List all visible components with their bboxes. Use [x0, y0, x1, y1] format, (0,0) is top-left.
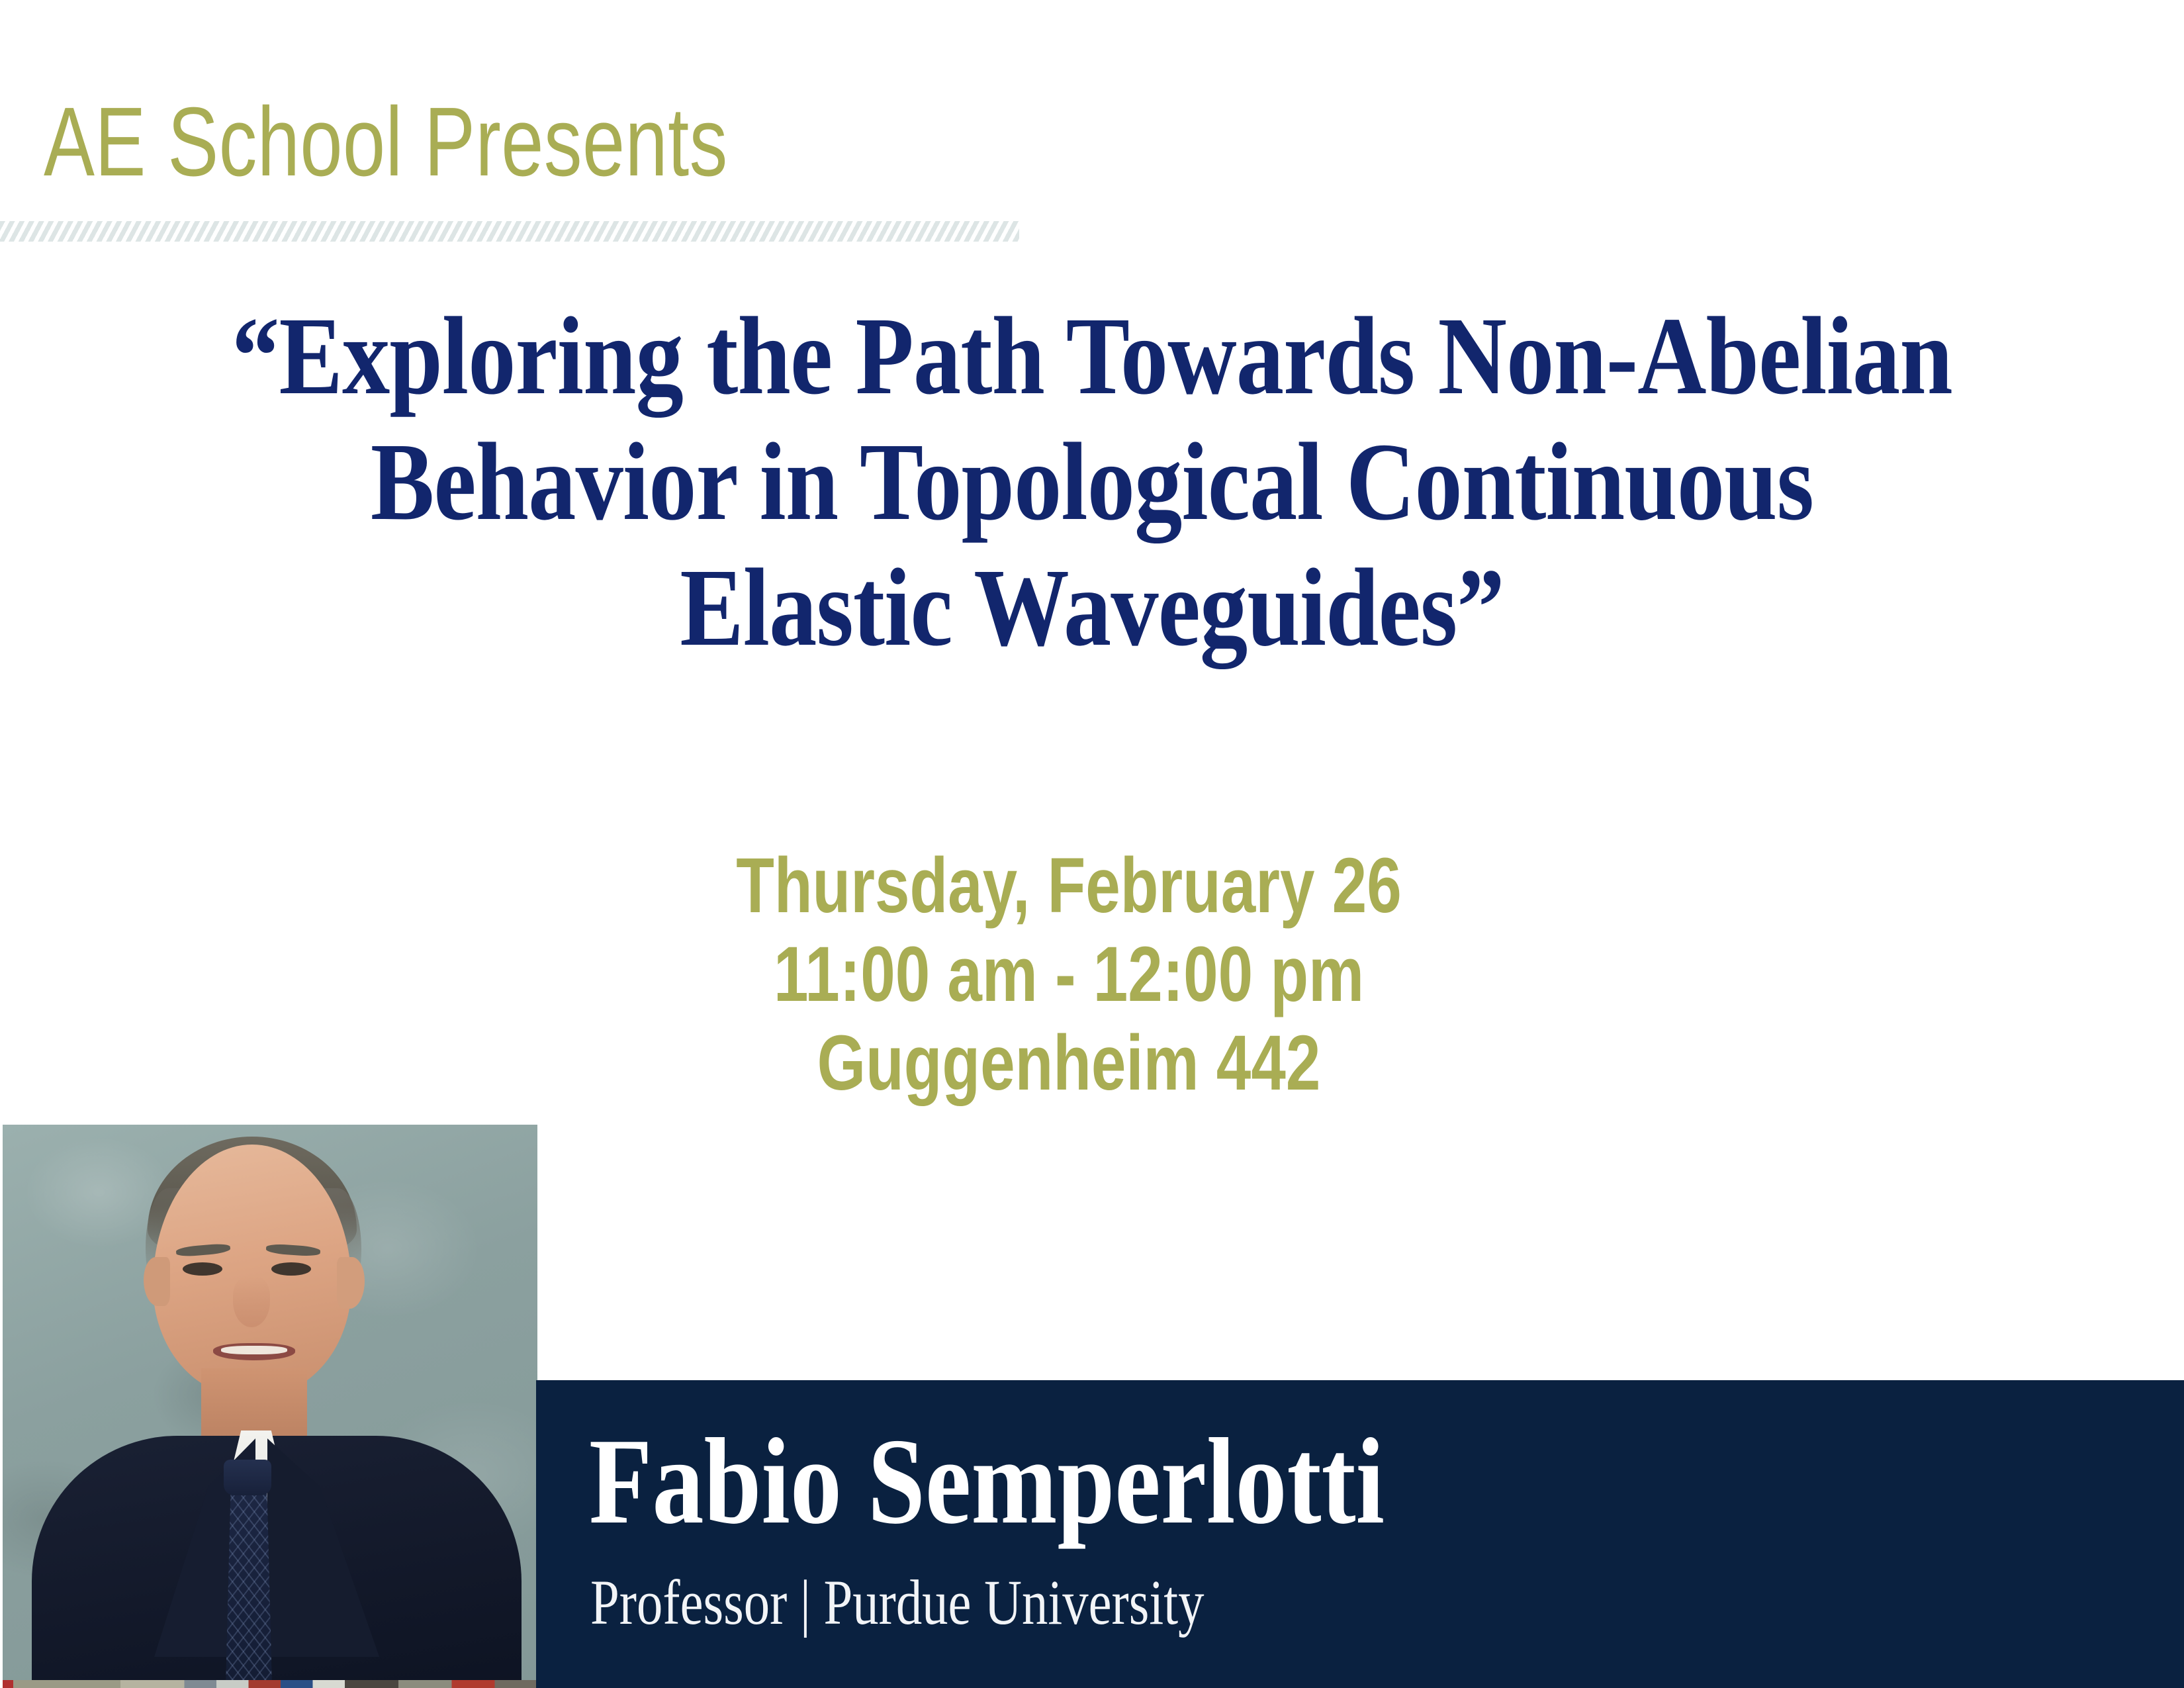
talk-title-line-1: “Exploring the Path Towards Non-Abelian [187, 311, 1997, 401]
photo-tie-knot [224, 1460, 271, 1495]
event-time: 11:00 am - 12:00 pm [214, 943, 1924, 1006]
photo-bottom-strip [3, 1680, 537, 1688]
event-date: Thursday, February 26 [214, 854, 1924, 917]
photo-ear-left [144, 1257, 170, 1306]
speaker-photo [3, 1125, 537, 1688]
eyebrow-text: AE School Presents [44, 79, 1386, 205]
talk-title-line-3: Elastic Waveguides” [187, 563, 1997, 653]
photo-eye-right [271, 1262, 311, 1276]
photo-eye-left [183, 1262, 222, 1276]
speaker-affiliation: Professor | Purdue University [590, 1570, 1204, 1636]
photo-teeth [221, 1346, 287, 1354]
event-location: Guggenheim 442 [214, 1031, 1924, 1095]
event-details: Thursday, February 26 11:00 am - 12:00 p… [0, 854, 2138, 1095]
hatch-divider-icon [0, 221, 1019, 242]
talk-title: “Exploring the Path Towards Non-Abelian … [40, 311, 2144, 653]
speaker-name: Fabio Semperlotti [589, 1432, 1385, 1531]
talk-title-line-2: Behavior in Topological Continuous [187, 437, 1997, 527]
speaker-banner: Fabio Semperlotti Professor | Purdue Uni… [536, 1380, 2184, 1688]
eyebrow-header: AE School Presents [44, 79, 1764, 205]
photo-nose [233, 1276, 270, 1327]
